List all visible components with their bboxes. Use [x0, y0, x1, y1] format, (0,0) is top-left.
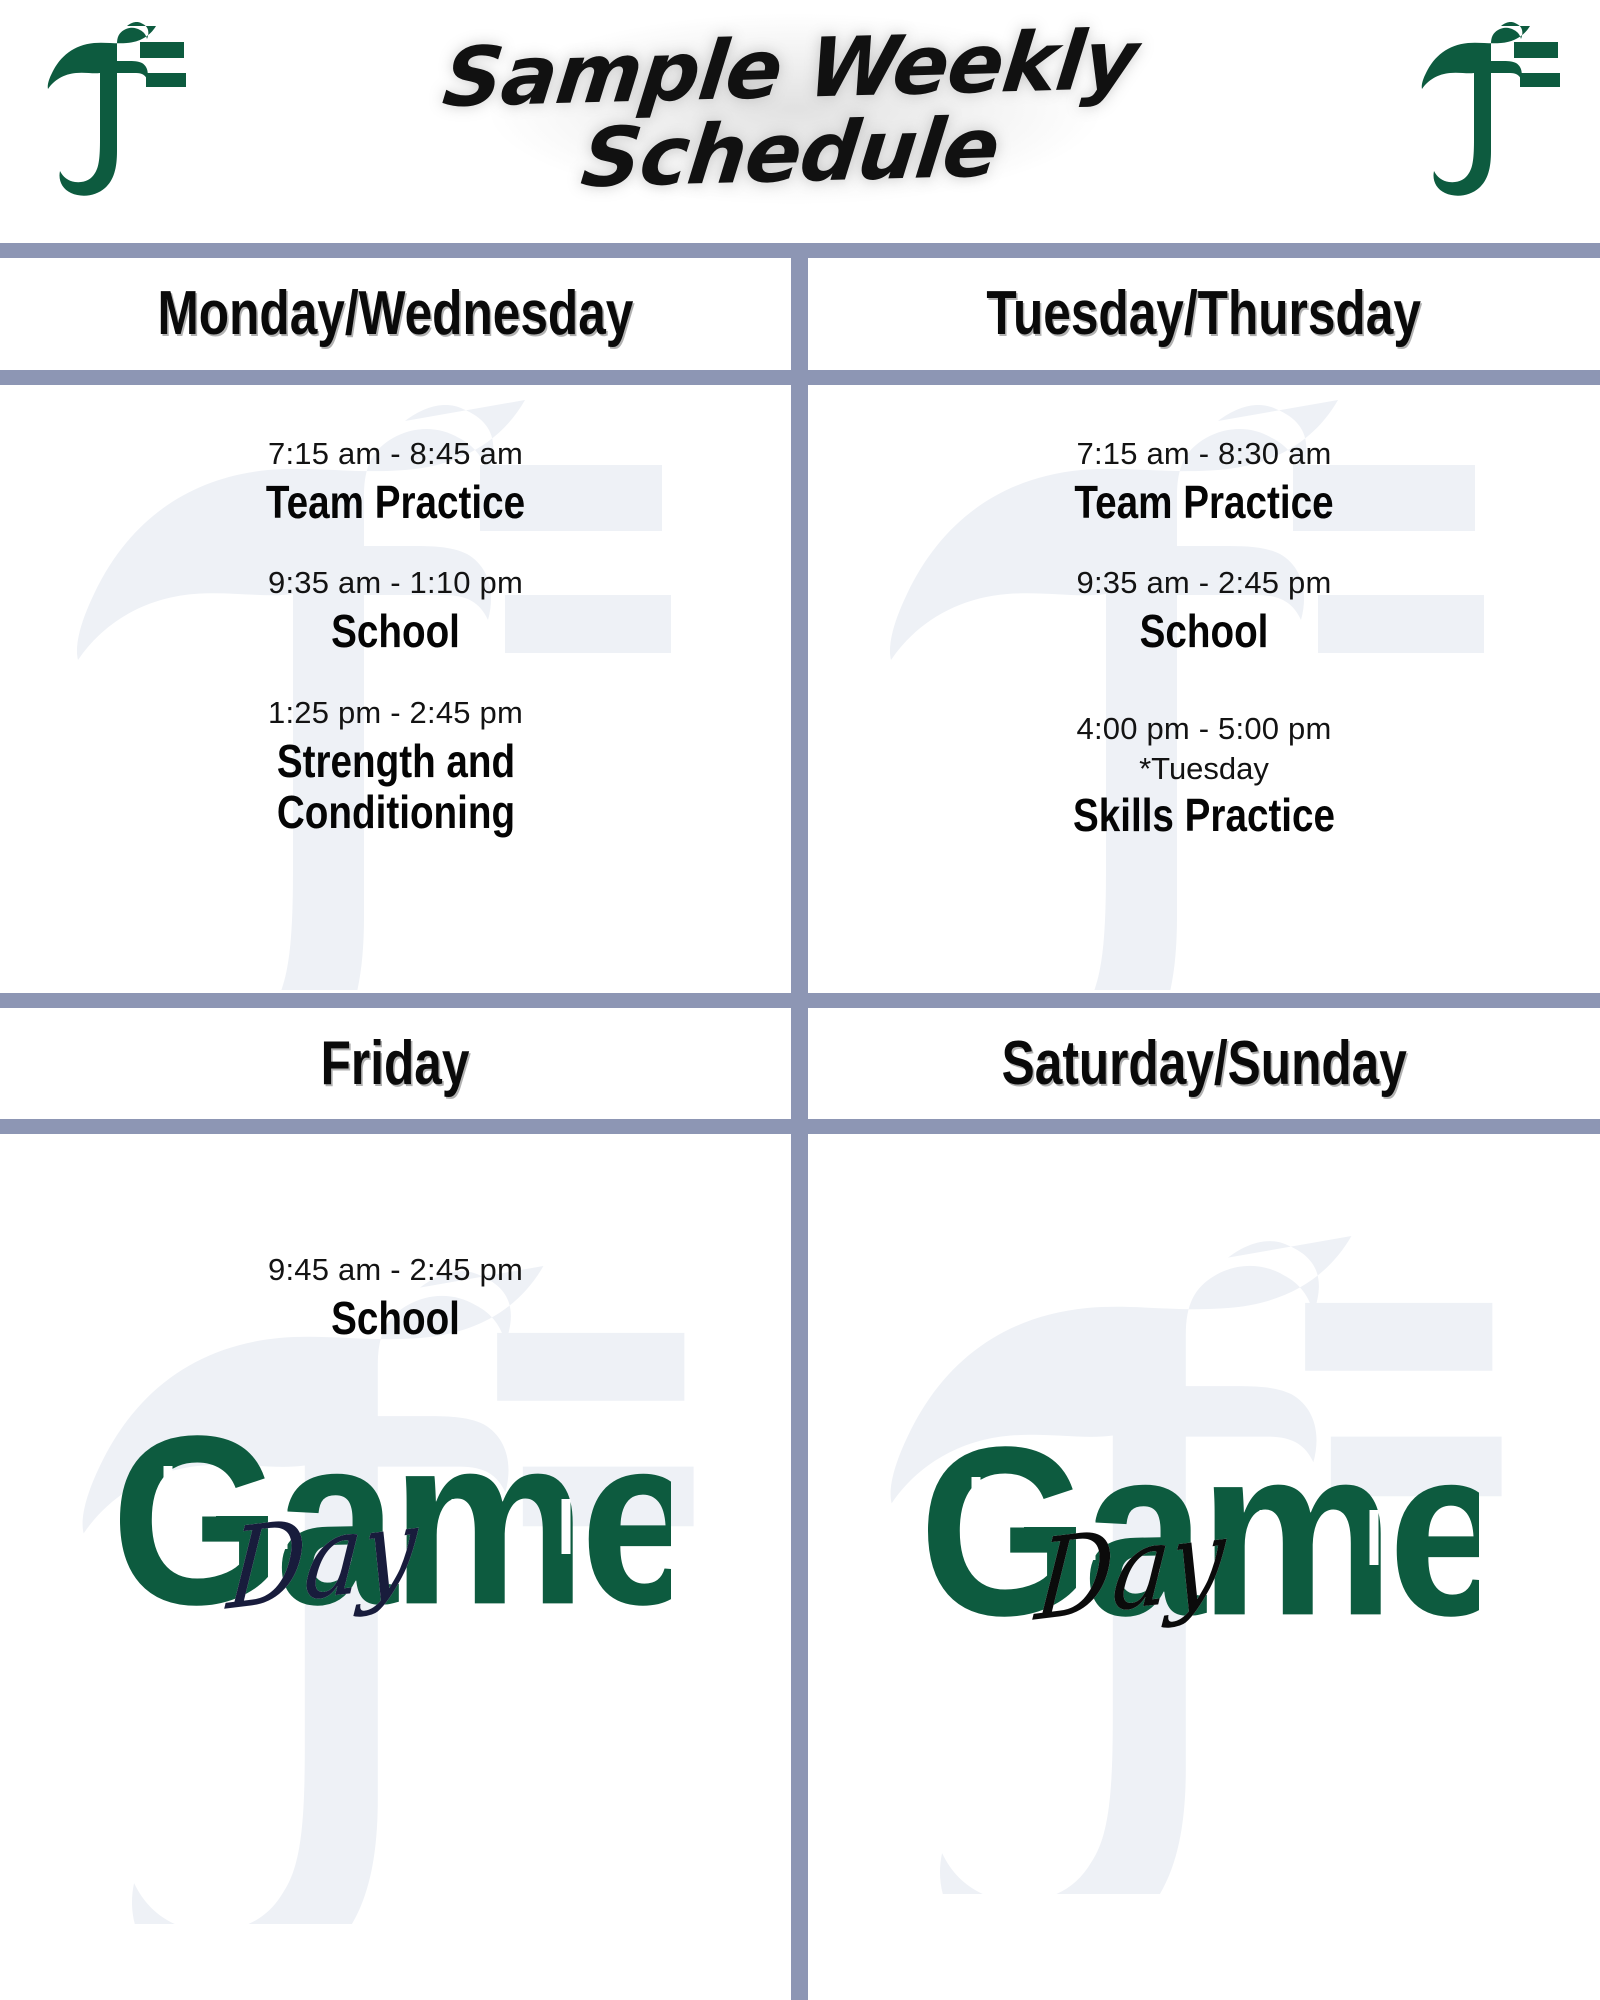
- entry-list: 9:45 am - 2:45 pm School: [0, 1249, 791, 1404]
- entry-label: Strength and Conditioning: [202, 736, 588, 839]
- entry-label: Team Practice: [871, 477, 1536, 529]
- day-script-text: Day: [1032, 1502, 1229, 1637]
- schedule-entry: 1:25 pm - 2:45 pm Strength and Condition…: [0, 692, 791, 839]
- grid-rule-vertical-header-1: [791, 243, 808, 385]
- column-header-mon-wed: Monday/Wednesday: [0, 258, 791, 370]
- header-band: Sample Weekly Schedule: [0, 0, 1600, 243]
- column-header-friday: Friday: [0, 1008, 791, 1119]
- schedule-entry: 7:15 am - 8:45 am Team Practice: [0, 433, 791, 528]
- page-title: Sample Weekly Schedule: [420, 4, 1160, 219]
- grid-rule-vertical-body-1: [791, 385, 808, 1008]
- schedule-entry: 7:15 am - 8:30 am Team Practice: [808, 433, 1600, 528]
- column-header-sat-sun: Saturday/Sunday: [808, 1008, 1600, 1119]
- column-header-label: Friday: [321, 1033, 470, 1095]
- entry-time: 7:15 am - 8:30 am: [808, 433, 1600, 475]
- game-day-graphic-friday: Game Day: [111, 1404, 671, 1634]
- entry-time: 7:15 am - 8:45 am: [0, 433, 791, 475]
- entry-time: 9:35 am - 1:10 pm: [0, 562, 791, 604]
- grid-rule-vertical-header-2: [791, 993, 808, 1134]
- entry-time: 4:00 pm - 5:00 pm: [808, 708, 1600, 750]
- column-header-label: Saturday/Sunday: [1001, 1033, 1406, 1095]
- entry-list: 7:15 am - 8:45 am Team Practice 9:35 am …: [0, 433, 791, 873]
- schedule-entry: 4:00 pm - 5:00 pm *Tuesday Skills Practi…: [808, 708, 1600, 842]
- column-body-tue-thu: 7:15 am - 8:30 am Team Practice 9:35 am …: [808, 385, 1600, 993]
- school-logo-right: [1392, 8, 1582, 208]
- schedule-entry: 9:35 am - 2:45 pm School: [808, 562, 1600, 657]
- entry-time: 1:25 pm - 2:45 pm: [0, 692, 791, 734]
- entry-label: School: [63, 606, 727, 658]
- school-logo-left: [18, 8, 208, 208]
- blackletter-f-logo-icon: [1412, 18, 1562, 198]
- column-body-friday: 9:45 am - 2:45 pm School Game Day: [0, 1134, 791, 2000]
- blackletter-f-logo-icon: [38, 18, 188, 198]
- entry-time: 9:45 am - 2:45 pm: [0, 1249, 791, 1291]
- column-header-tue-thu: Tuesday/Thursday: [808, 258, 1600, 370]
- title-line-2: Schedule: [578, 109, 1003, 197]
- day-script-text: Day: [224, 1491, 421, 1626]
- entry-note: *Tuesday: [808, 750, 1600, 789]
- schedule-entry: 9:45 am - 2:45 pm School: [0, 1249, 791, 1344]
- entry-time: 9:35 am - 2:45 pm: [808, 562, 1600, 604]
- entry-label: Team Practice: [63, 477, 727, 529]
- column-header-label: Tuesday/Thursday: [987, 283, 1422, 345]
- entry-list: 7:15 am - 8:30 am Team Practice 9:35 am …: [808, 433, 1600, 876]
- title-line-1: Sample Weekly: [439, 22, 1140, 117]
- entry-label: Skills Practice: [871, 790, 1536, 842]
- schedule-entry: 9:35 am - 1:10 pm School: [0, 562, 791, 657]
- column-body-sat-sun: Game Day: [808, 1134, 1600, 2000]
- column-body-mon-wed: 7:15 am - 8:45 am Team Practice 9:35 am …: [0, 385, 791, 993]
- entry-label: School: [63, 1293, 727, 1345]
- entry-label: School: [871, 606, 1536, 658]
- game-day-graphic-sat-sun: Game Day: [919, 1415, 1479, 1645]
- grid-rule-vertical-body-2: [791, 1134, 808, 2000]
- column-header-label: Monday/Wednesday: [158, 283, 634, 345]
